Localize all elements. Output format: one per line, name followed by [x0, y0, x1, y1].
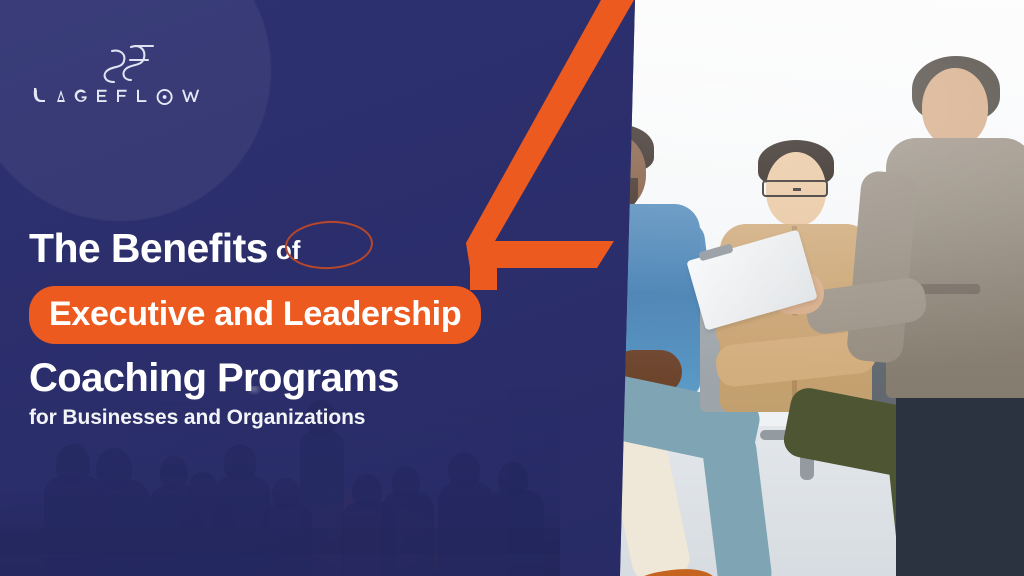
sageflow-monogram-icon [18, 18, 218, 114]
watermark-table [0, 528, 560, 554]
headline-block: The Benefitsof Executive and Leadership … [29, 222, 499, 432]
banner-root: The Benefitsof Executive and Leadership … [0, 0, 1024, 576]
brand-logo[interactable] [18, 18, 218, 110]
headline-line-3: Coaching Programs [29, 354, 499, 402]
hand-drawn-ellipse-annotation [284, 219, 374, 272]
glasses-icon [762, 180, 828, 197]
headline-subline: for Businesses and Organizations [29, 404, 499, 432]
headline-line-1-main: The Benefits [29, 225, 268, 271]
silhouette-head [160, 456, 188, 490]
headline-highlight-pill: Executive and Leadership [29, 286, 481, 344]
head [922, 68, 988, 146]
headline-line-1: The Benefitsof [29, 222, 499, 279]
legs [896, 390, 1024, 576]
